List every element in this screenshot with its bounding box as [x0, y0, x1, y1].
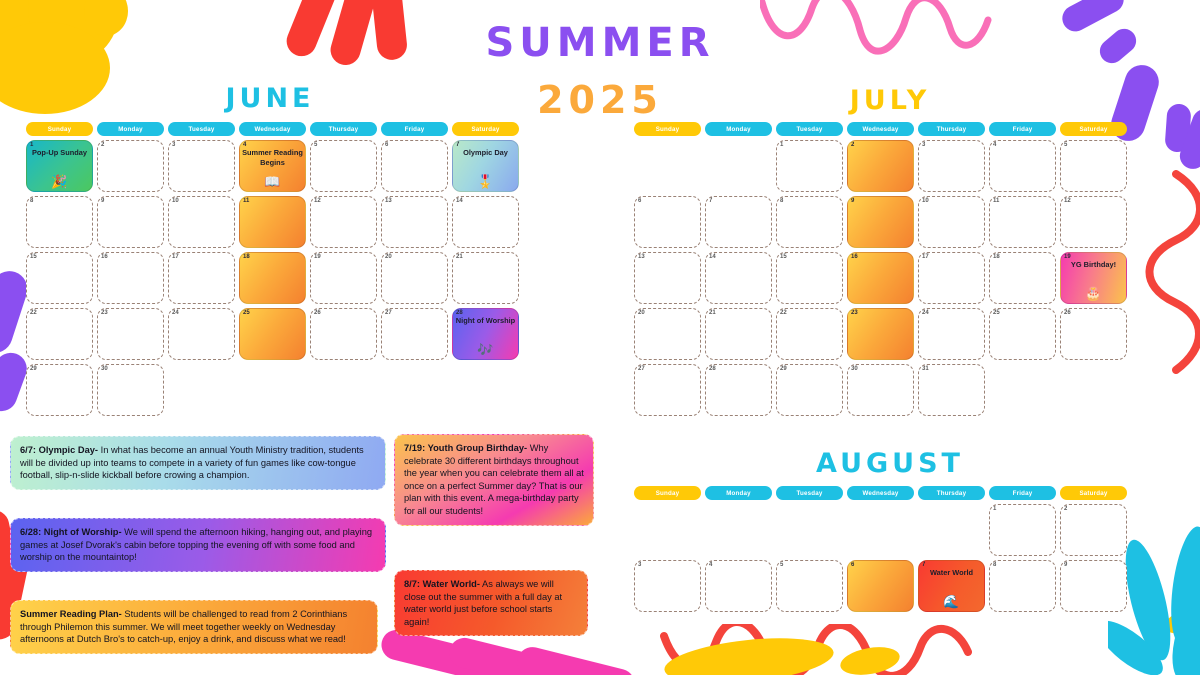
- day-of-week-header-monday: Monday: [97, 122, 164, 136]
- calendar-day-cell[interactable]: 12: [310, 196, 377, 248]
- day-number: 8: [780, 198, 783, 204]
- calendar-day-cell[interactable]: 24: [168, 308, 235, 360]
- day-of-week-header-sunday: Sunday: [634, 486, 701, 500]
- calendar-cell-empty: [239, 364, 306, 416]
- day-number: 24: [172, 310, 179, 316]
- calendar-cell-empty: [918, 504, 985, 556]
- day-number: 12: [1064, 198, 1071, 204]
- day-number: 13: [385, 198, 392, 204]
- day-number: 7: [709, 198, 712, 204]
- calendar-event-label: Water World: [921, 568, 982, 578]
- event-description-heading: Summer Reading Plan-: [20, 609, 122, 619]
- day-number: 22: [30, 310, 37, 316]
- calendar-day-cell[interactable]: 7: [705, 196, 772, 248]
- day-of-week-header-sunday: Sunday: [634, 122, 701, 136]
- calendar-day-cell[interactable]: 3: [634, 560, 701, 612]
- day-number: 15: [780, 254, 787, 260]
- calendar-day-cell[interactable]: 3: [168, 140, 235, 192]
- day-number: 19: [1064, 254, 1071, 260]
- day-number: 31: [922, 366, 929, 372]
- day-number: 25: [993, 310, 1000, 316]
- calendar-day-cell[interactable]: 2: [1060, 504, 1127, 556]
- calendar-day-cell[interactable]: 7Water World🌊: [918, 560, 985, 612]
- day-of-week-header-thursday: Thursday: [310, 122, 377, 136]
- day-number: 19: [314, 254, 321, 260]
- day-number: 14: [709, 254, 716, 260]
- day-number: 3: [638, 562, 641, 568]
- day-number: 24: [922, 310, 929, 316]
- calendar-day-cell[interactable]: 6: [634, 196, 701, 248]
- calendar-day-cell[interactable]: 28Night of Worship🎶: [452, 308, 519, 360]
- day-number: 2: [101, 142, 104, 148]
- day-of-week-header-sunday: Sunday: [26, 122, 93, 136]
- day-number: 1: [993, 506, 996, 512]
- day-number: 3: [172, 142, 175, 148]
- day-of-week-header-tuesday: Tuesday: [776, 486, 843, 500]
- day-number: 22: [780, 310, 787, 316]
- calendar-day-cell[interactable]: 27: [634, 364, 701, 416]
- pink-stroke-decoration: [514, 644, 638, 675]
- day-number: 1: [30, 142, 33, 148]
- event-description-heading: 7/19: Youth Group Birthday-: [404, 443, 527, 453]
- calendar-cell-empty: [310, 364, 377, 416]
- calendar-day-cell[interactable]: 29: [776, 364, 843, 416]
- calendar-day-cell[interactable]: 29: [26, 364, 93, 416]
- calendar-day-cell[interactable]: 16: [97, 252, 164, 304]
- calendar-day-cell[interactable]: 21: [452, 252, 519, 304]
- day-number: 15: [30, 254, 37, 260]
- day-of-week-header-monday: Monday: [705, 122, 772, 136]
- day-number: 21: [456, 254, 463, 260]
- day-number: 26: [1064, 310, 1071, 316]
- day-of-week-header-monday: Monday: [705, 486, 772, 500]
- calendar-day-cell[interactable]: 10: [168, 196, 235, 248]
- calendar-cell-empty: [634, 504, 701, 556]
- calendar-day-cell[interactable]: 19YG Birthday!🎂: [1060, 252, 1127, 304]
- calendar-day-cell[interactable]: 6: [381, 140, 448, 192]
- calendar-day-cell[interactable]: 4: [705, 560, 772, 612]
- calendar-day-cell[interactable]: 20: [634, 308, 701, 360]
- page-title-summer: SUMMER: [0, 20, 1200, 66]
- day-number: 17: [172, 254, 179, 260]
- event-description-heading: 8/7: Water World-: [404, 579, 480, 589]
- day-number: 20: [638, 310, 645, 316]
- calendar-day-cell[interactable]: 8: [26, 196, 93, 248]
- event-description-youth-group-birthday: 7/19: Youth Group Birthday- Why celebrat…: [394, 434, 594, 526]
- calendar-day-cell[interactable]: 3: [918, 140, 985, 192]
- calendar-cell-empty: [989, 364, 1056, 416]
- calendar-day-cell[interactable]: 16: [847, 252, 914, 304]
- red-wavy-line-decoration: [660, 624, 990, 675]
- calendar-day-cell[interactable]: 14: [452, 196, 519, 248]
- calendar-day-cell[interactable]: 14: [705, 252, 772, 304]
- calendar-day-cell[interactable]: 4: [989, 140, 1056, 192]
- calendar-cell-empty: [634, 140, 701, 192]
- day-number: 25: [243, 310, 250, 316]
- day-of-week-header-saturday: Saturday: [452, 122, 519, 136]
- day-number: 30: [101, 366, 108, 372]
- yellow-blob-decoration: [1162, 604, 1200, 639]
- calendar-day-cell[interactable]: 9: [97, 196, 164, 248]
- day-number: 7: [456, 142, 459, 148]
- calendar-day-cell[interactable]: 1Pop-Up Sunday🎉: [26, 140, 93, 192]
- calendar-day-cell[interactable]: 9: [1060, 560, 1127, 612]
- calendar-day-cell[interactable]: 26: [1060, 308, 1127, 360]
- calendar-grid-august: SundayMondayTuesdayWednesdayThursdayFrid…: [632, 486, 1129, 616]
- calendar-day-cell[interactable]: 25: [989, 308, 1056, 360]
- wave-icon: 🌊: [919, 595, 984, 608]
- calendar-day-cell[interactable]: 23: [97, 308, 164, 360]
- calendar-day-cell[interactable]: 5: [310, 140, 377, 192]
- day-of-week-header-friday: Friday: [989, 486, 1056, 500]
- music-notes-icon: 🎶: [453, 343, 518, 356]
- calendar-event-label: YG Birthday!: [1063, 260, 1124, 270]
- day-number: 26: [314, 310, 321, 316]
- day-number: 4: [993, 142, 996, 148]
- calendar-day-cell[interactable]: 15: [776, 252, 843, 304]
- month-title-august: AUGUST: [620, 448, 1160, 479]
- party-popper-icon: 🎉: [27, 175, 92, 188]
- calendar-cell-empty: [776, 504, 843, 556]
- event-description-olympic-day: 6/7: Olympic Day- In what has become an …: [10, 436, 386, 490]
- day-number: 2: [1064, 506, 1067, 512]
- calendar-day-cell[interactable]: 5: [1060, 140, 1127, 192]
- day-of-week-header-wednesday: Wednesday: [239, 122, 306, 136]
- day-number: 16: [851, 254, 858, 260]
- summer-calendar-page: SUMMER 2025 JUNE JULY AUGUST SundayMonda…: [0, 0, 1200, 675]
- event-description-water-world: 8/7: Water World- As always we will clos…: [394, 570, 588, 636]
- day-number: 27: [638, 366, 645, 372]
- calendar-event-label: Summer Reading Begins: [242, 148, 303, 167]
- event-description-body: Why celebrate 30 different birthdays thr…: [404, 443, 584, 516]
- calendar-day-cell[interactable]: 20: [381, 252, 448, 304]
- day-number: 8: [993, 562, 996, 568]
- calendar-cell-empty: [705, 140, 772, 192]
- calendar-cell-empty: [847, 504, 914, 556]
- day-of-week-header-tuesday: Tuesday: [776, 122, 843, 136]
- day-number: 10: [172, 198, 179, 204]
- calendar-day-cell[interactable]: 22: [26, 308, 93, 360]
- medal-icon: 🎖️: [453, 175, 518, 188]
- calendar-day-cell[interactable]: 24: [918, 308, 985, 360]
- calendar-day-cell[interactable]: 27: [381, 308, 448, 360]
- day-number: 6: [385, 142, 388, 148]
- day-number: 29: [30, 366, 37, 372]
- calendar-event-label: Pop-Up Sunday: [29, 148, 90, 158]
- day-number: 6: [638, 198, 641, 204]
- calendar-event-label: Olympic Day: [455, 148, 516, 158]
- day-of-week-header-thursday: Thursday: [918, 486, 985, 500]
- day-of-week-header-friday: Friday: [381, 122, 448, 136]
- calendar-cell-empty: [168, 364, 235, 416]
- calendar-day-cell[interactable]: 2: [847, 140, 914, 192]
- calendar-day-cell[interactable]: 11: [239, 196, 306, 248]
- calendar-day-cell[interactable]: 17: [918, 252, 985, 304]
- day-number: 14: [456, 198, 463, 204]
- calendar-day-cell[interactable]: 12: [1060, 196, 1127, 248]
- day-number: 28: [456, 310, 463, 316]
- calendar-day-cell[interactable]: 6: [847, 560, 914, 612]
- cyan-leaf-decoration: [1160, 604, 1200, 675]
- red-wavy-line-decoration: [1136, 170, 1200, 380]
- day-number: 11: [993, 198, 999, 204]
- day-of-week-header-saturday: Saturday: [1060, 122, 1127, 136]
- calendar-day-cell[interactable]: 2: [97, 140, 164, 192]
- event-description-heading: 6/28: Night of Worship-: [20, 527, 122, 537]
- calendar-day-cell[interactable]: 26: [310, 308, 377, 360]
- day-number: 18: [243, 254, 250, 260]
- day-number: 4: [243, 142, 246, 148]
- day-number: 20: [385, 254, 392, 260]
- event-description-night-of-worship: 6/28: Night of Worship- We will spend th…: [10, 518, 386, 572]
- day-number: 27: [385, 310, 392, 316]
- day-number: 6: [851, 562, 854, 568]
- calendar-day-cell[interactable]: 11: [989, 196, 1056, 248]
- calendar-day-cell[interactable]: 13: [634, 252, 701, 304]
- day-number: 3: [922, 142, 925, 148]
- month-title-july: JULY: [620, 85, 1160, 116]
- day-number: 5: [780, 562, 783, 568]
- pink-stroke-decoration: [446, 635, 579, 675]
- calendar-day-cell[interactable]: 19: [310, 252, 377, 304]
- month-title-june: JUNE: [0, 83, 540, 114]
- day-number: 5: [314, 142, 317, 148]
- calendar-day-cell[interactable]: 25: [239, 308, 306, 360]
- calendar-day-cell[interactable]: 17: [168, 252, 235, 304]
- day-number: 23: [101, 310, 108, 316]
- calendar-cell-empty: [381, 364, 448, 416]
- day-of-week-header-thursday: Thursday: [918, 122, 985, 136]
- calendar-cell-empty: [1060, 364, 1127, 416]
- calendar-day-cell[interactable]: 4Summer Reading Begins📖: [239, 140, 306, 192]
- calendar-cell-empty: [452, 364, 519, 416]
- calendar-day-cell[interactable]: 23: [847, 308, 914, 360]
- event-description-summer-reading-plan: Summer Reading Plan- Students will be ch…: [10, 600, 378, 654]
- calendar-cell-empty: [705, 504, 772, 556]
- calendar-day-cell[interactable]: 30: [97, 364, 164, 416]
- event-description-heading: 6/7: Olympic Day-: [20, 445, 98, 455]
- day-number: 12: [314, 198, 321, 204]
- calendar-day-cell[interactable]: 21: [705, 308, 772, 360]
- day-number: 11: [243, 198, 249, 204]
- open-book-icon: 📖: [240, 175, 305, 188]
- day-number: 7: [922, 562, 925, 568]
- day-of-week-header-friday: Friday: [989, 122, 1056, 136]
- calendar-day-cell[interactable]: 18: [239, 252, 306, 304]
- calendar-day-cell[interactable]: 30: [847, 364, 914, 416]
- day-number: 8: [30, 198, 33, 204]
- calendar-day-cell[interactable]: 10: [918, 196, 985, 248]
- calendar-grid-june: SundayMondayTuesdayWednesdayThursdayFrid…: [24, 122, 521, 420]
- day-number: 13: [638, 254, 645, 260]
- calendar-day-cell[interactable]: 18: [989, 252, 1056, 304]
- day-of-week-header-wednesday: Wednesday: [847, 486, 914, 500]
- day-number: 1: [780, 142, 783, 148]
- day-number: 16: [101, 254, 108, 260]
- calendar-day-cell[interactable]: 22: [776, 308, 843, 360]
- day-number: 2: [851, 142, 854, 148]
- day-number: 4: [709, 562, 712, 568]
- day-number: 9: [851, 198, 854, 204]
- calendar-day-cell[interactable]: 13: [381, 196, 448, 248]
- day-number: 29: [780, 366, 787, 372]
- day-number: 10: [922, 198, 929, 204]
- day-number: 9: [101, 198, 104, 204]
- day-number: 5: [1064, 142, 1067, 148]
- day-number: 23: [851, 310, 858, 316]
- calendar-day-cell[interactable]: 8: [776, 196, 843, 248]
- day-of-week-header-tuesday: Tuesday: [168, 122, 235, 136]
- calendar-day-cell[interactable]: 15: [26, 252, 93, 304]
- day-of-week-header-wednesday: Wednesday: [847, 122, 914, 136]
- calendar-day-cell[interactable]: 1: [776, 140, 843, 192]
- day-number: 21: [709, 310, 716, 316]
- day-number: 9: [1064, 562, 1067, 568]
- day-number: 18: [993, 254, 1000, 260]
- calendar-day-cell[interactable]: 7Olympic Day🎖️: [452, 140, 519, 192]
- yellow-blob-decoration: [838, 643, 902, 675]
- day-of-week-header-saturday: Saturday: [1060, 486, 1127, 500]
- calendar-grid-july: SundayMondayTuesdayWednesdayThursdayFrid…: [632, 122, 1129, 420]
- calendar-day-cell[interactable]: 1: [989, 504, 1056, 556]
- day-number: 30: [851, 366, 858, 372]
- day-number: 28: [709, 366, 716, 372]
- calendar-event-label: Night of Worship: [455, 316, 516, 326]
- calendar-day-cell[interactable]: 28: [705, 364, 772, 416]
- calendar-day-cell[interactable]: 8: [989, 560, 1056, 612]
- calendar-day-cell[interactable]: 31: [918, 364, 985, 416]
- calendar-day-cell[interactable]: 5: [776, 560, 843, 612]
- calendar-day-cell[interactable]: 9: [847, 196, 914, 248]
- yellow-blob-decoration: [662, 631, 835, 675]
- day-number: 17: [922, 254, 929, 260]
- birthday-cake-icon: 🎂: [1061, 287, 1126, 300]
